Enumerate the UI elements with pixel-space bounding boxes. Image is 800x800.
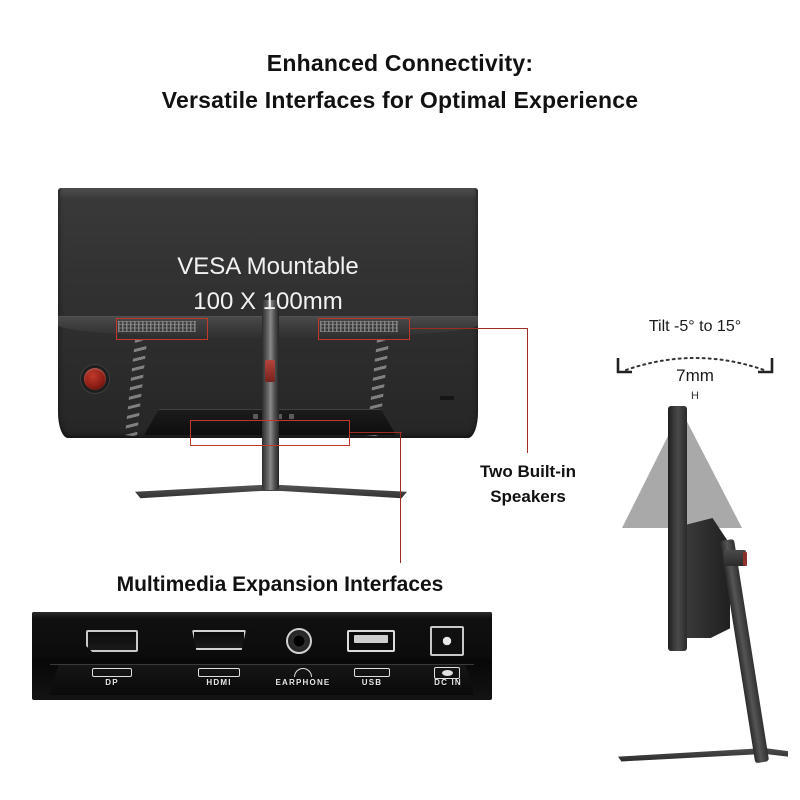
- monitor-side-view: Tilt -5° to 15° 7mm H: [600, 318, 790, 718]
- annotation-box-ports: [190, 420, 350, 446]
- port-label-usb: USB: [342, 678, 402, 687]
- page-title-line-2: Versatile Interfaces for Optimal Experie…: [0, 87, 800, 114]
- side-rear-hump: [684, 518, 730, 638]
- thickness-marker-icon: H: [600, 390, 790, 402]
- vesa-label-line-1: VESA Mountable: [58, 250, 478, 285]
- hdmi-label-icon: [198, 668, 240, 677]
- hdmi-port[interactable]: [192, 630, 246, 650]
- ports-strip-photo: DP HDMI EARPHONE USB DC IN: [32, 612, 492, 700]
- side-panel-profile: [668, 406, 687, 651]
- infographic-canvas: Enhanced Connectivity: Versatile Interfa…: [0, 0, 800, 800]
- rear-top-highlight: [60, 189, 476, 199]
- power-button-icon[interactable]: [84, 368, 106, 390]
- callout-speakers-line-2: Speakers: [443, 485, 613, 510]
- displayport-label-icon: [92, 668, 132, 677]
- callout-speakers: Two Built-in Speakers: [443, 460, 613, 509]
- port-label-hdmi: HDMI: [189, 678, 249, 687]
- stand-accent-stripe: [265, 360, 275, 382]
- dc-in-port[interactable]: [430, 626, 464, 656]
- page-title-line-1: Enhanced Connectivity:: [0, 50, 800, 77]
- port-label-dc-in: DC IN: [420, 678, 476, 687]
- tilt-ghost-wedge-right: [680, 408, 742, 528]
- usb-tongue: [354, 635, 388, 643]
- leader-line-speakers-horizontal: [410, 328, 528, 329]
- dc-in-pin: [438, 635, 456, 647]
- annotation-box-speaker-left: [116, 318, 208, 340]
- vesa-label-line-2: 100 X 100mm: [58, 285, 478, 320]
- side-stand-arm: [720, 539, 769, 763]
- tilt-range-label: Tilt -5° to 15°: [600, 318, 790, 336]
- side-hinge-accent: [743, 552, 747, 566]
- callout-speakers-line-1: Two Built-in: [443, 460, 613, 485]
- port-label-earphone: EARPHONE: [263, 678, 343, 687]
- vesa-label-group: VESA Mountable 100 X 100mm: [58, 250, 478, 320]
- displayport-port[interactable]: [86, 630, 138, 652]
- earphone-port[interactable]: [286, 628, 312, 654]
- usb-label-icon: [354, 668, 390, 677]
- monitor-stand-column: [262, 300, 279, 490]
- leader-line-ports-vertical: [400, 433, 401, 563]
- rear-vent-icon: [440, 396, 454, 400]
- callout-interfaces: Multimedia Expansion Interfaces: [60, 570, 500, 600]
- thickness-label: 7mm: [600, 366, 790, 386]
- leader-line-ports-horizontal: [350, 432, 402, 433]
- annotation-box-speaker-right: [318, 318, 410, 340]
- usb-port[interactable]: [347, 630, 395, 652]
- ports-strip-divider: [50, 664, 474, 665]
- leader-line-speakers-vertical: [527, 328, 528, 453]
- dc-in-label-dot: [442, 670, 453, 676]
- ports-strip-top-edge: [32, 612, 492, 618]
- port-label-dp: DP: [82, 678, 142, 687]
